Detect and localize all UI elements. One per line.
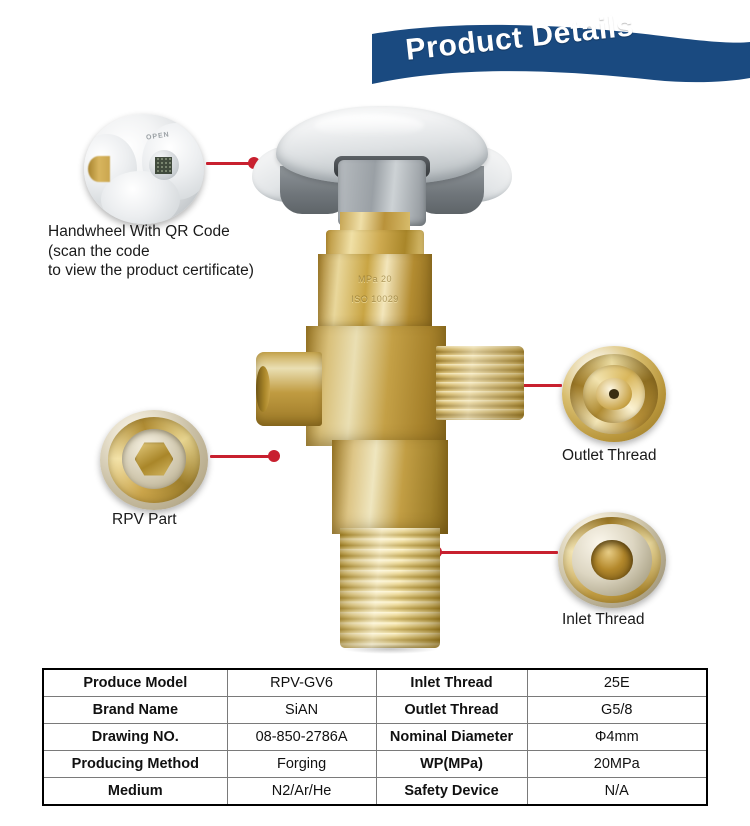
spec-key: Safety Device (376, 778, 527, 806)
drop-shadow (342, 644, 438, 654)
valve-packing-nut: MPa 20 ISO 10029 (318, 254, 432, 330)
spec-key: Nominal Diameter (376, 724, 527, 751)
spec-key: Inlet Thread (376, 669, 527, 697)
spec-value: Φ4mm (527, 724, 707, 751)
callout-label-handwheel: Handwheel With QR Code (scan the code to… (48, 222, 254, 281)
spec-value: 25E (527, 669, 707, 697)
callout-label-outlet: Outlet Thread (562, 446, 657, 466)
spec-key: Drawing NO. (43, 724, 227, 751)
spec-value: 20MPa (527, 751, 707, 778)
spec-key: Brand Name (43, 697, 227, 724)
valve-side-port (256, 352, 322, 426)
outlet-thread-port (436, 346, 524, 420)
handwheel (252, 104, 512, 222)
spec-table-body: Produce Model RPV-GV6 Inlet Thread 25E B… (43, 669, 707, 805)
spec-key: Medium (43, 778, 227, 806)
qr-code-bezel (149, 150, 179, 180)
engraving-line-2: ISO 10029 (318, 294, 432, 304)
table-row: Drawing NO. 08-850-2786A Nominal Diamete… (43, 724, 707, 751)
inlet-thread-port (340, 528, 440, 648)
inset-rpv-photo (100, 410, 208, 510)
specification-table: Produce Model RPV-GV6 Inlet Thread 25E B… (42, 668, 708, 806)
table-row: Producing Method Forging WP(MPa) 20MPa (43, 751, 707, 778)
cylinder-valve-product: MPa 20 ISO 10029 (246, 104, 536, 664)
inset-handwheel-photo: OPEN (84, 114, 204, 224)
spec-value: SiAN (227, 697, 376, 724)
table-row: Produce Model RPV-GV6 Inlet Thread 25E (43, 669, 707, 697)
callout-label-rpv: RPV Part (112, 510, 177, 530)
valve-body (306, 326, 446, 446)
spec-value: Forging (227, 751, 376, 778)
spec-key: WP(MPa) (376, 751, 527, 778)
engraving-line-1: MPa 20 (318, 274, 432, 284)
inset-outlet-thread-photo (562, 346, 666, 442)
spec-value: N2/Ar/He (227, 778, 376, 806)
table-row: Medium N2/Ar/He Safety Device N/A (43, 778, 707, 806)
spec-key: Producing Method (43, 751, 227, 778)
table-row: Brand Name SiAN Outlet Thread G5/8 (43, 697, 707, 724)
spec-value: G5/8 (527, 697, 707, 724)
spec-value: RPV-GV6 (227, 669, 376, 697)
spec-value: 08-850-2786A (227, 724, 376, 751)
spec-value: N/A (527, 778, 707, 806)
inset-inlet-thread-photo (558, 512, 666, 608)
spec-key: Outlet Thread (376, 697, 527, 724)
qr-code-icon (155, 157, 172, 174)
callout-label-inlet: Inlet Thread (562, 610, 644, 630)
valve-lower-body (332, 440, 448, 534)
product-detail-page: Product Details OPEN Handwheel With QR C… (0, 0, 750, 826)
spec-key: Produce Model (43, 669, 227, 697)
leader-line-handwheel (206, 162, 250, 165)
